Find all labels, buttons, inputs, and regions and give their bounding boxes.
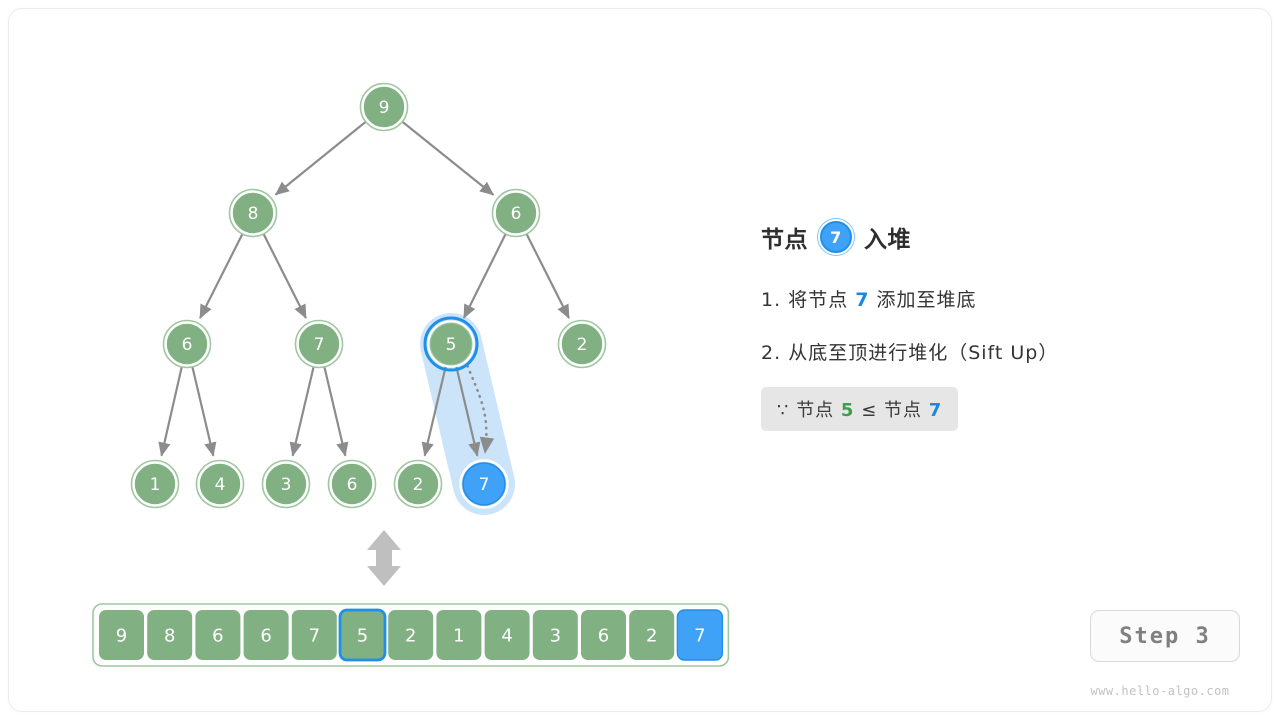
note-left-value: 5 bbox=[841, 400, 855, 421]
tree-edge bbox=[263, 234, 306, 319]
tree-node: 7 bbox=[461, 461, 508, 508]
array-cell-label: 9 bbox=[116, 626, 127, 647]
panel-title-prefix: 节点 bbox=[761, 220, 808, 254]
array-cell: 8 bbox=[147, 610, 192, 660]
tree-node-label: 5 bbox=[446, 335, 457, 355]
step-badge: Step 3 bbox=[1090, 610, 1240, 662]
tree-node-label: 6 bbox=[511, 204, 522, 224]
step-1-after: 添加至堆底 bbox=[877, 289, 977, 311]
step-2-before: 从底至顶进行堆化（Sift Up） bbox=[788, 342, 1058, 364]
array-cell: 7 bbox=[677, 610, 722, 660]
tree-node-label: 9 bbox=[379, 98, 390, 118]
diagram-frame: 9866752143627 9866752143627 节点 7 入堆 1. 将… bbox=[8, 8, 1272, 712]
tree-node-label: 2 bbox=[413, 475, 424, 495]
tree-node: 6 bbox=[493, 190, 540, 237]
tree-nodes: 9866752143627 bbox=[132, 84, 606, 508]
note-symbol: ∵ bbox=[777, 400, 789, 421]
tree-edge bbox=[526, 234, 569, 319]
tree-edge bbox=[192, 366, 213, 455]
array-cell-label: 1 bbox=[453, 626, 464, 647]
tree-node: 2 bbox=[395, 461, 442, 508]
note-left-label: 节点 bbox=[796, 400, 834, 421]
panel-title-suffix: 入堆 bbox=[864, 220, 911, 254]
tree-node: 6 bbox=[164, 321, 211, 368]
tree-edge bbox=[200, 234, 243, 319]
tree-node-label: 6 bbox=[347, 475, 358, 495]
diagram-stage: 9866752143627 9866752143627 节点 7 入堆 1. 将… bbox=[9, 9, 1272, 712]
tree-edge bbox=[161, 366, 181, 455]
tree-node-label: 7 bbox=[479, 475, 490, 495]
step-1-index: 1. bbox=[761, 289, 781, 311]
array-cell-label: 5 bbox=[357, 626, 368, 647]
array-cell-label: 7 bbox=[309, 626, 320, 647]
array-cell-label: 6 bbox=[260, 626, 271, 647]
note-right-label: 节点 bbox=[884, 400, 922, 421]
array-cell: 6 bbox=[244, 610, 289, 660]
array-cell: 6 bbox=[195, 610, 240, 660]
tree-node-label: 4 bbox=[215, 475, 226, 495]
array-cell-label: 2 bbox=[646, 626, 657, 647]
comparison-note: ∵ 节点 5 ≤ 节点 7 bbox=[761, 387, 958, 431]
array-cell-label: 6 bbox=[598, 626, 609, 647]
array-cell: 6 bbox=[581, 610, 626, 660]
panel-title: 节点 7 入堆 bbox=[761, 215, 1241, 259]
array-cell-label: 8 bbox=[164, 626, 175, 647]
array-cell: 9 bbox=[99, 610, 144, 660]
site-footer: www.hello-algo.com bbox=[1080, 684, 1240, 698]
step-line-1: 1. 将节点 7 添加至堆底 bbox=[761, 285, 1241, 312]
array-cell-label: 3 bbox=[550, 626, 561, 647]
tree-node: 4 bbox=[197, 461, 244, 508]
up-down-arrow-icon bbox=[367, 530, 401, 586]
array-cell-label: 4 bbox=[501, 626, 512, 647]
step-1-before: 将节点 bbox=[788, 289, 848, 311]
array-cell: 3 bbox=[533, 610, 578, 660]
tree-node-label: 7 bbox=[314, 335, 325, 355]
tree-node: 2 bbox=[559, 321, 606, 368]
array-cell-label: 6 bbox=[212, 626, 223, 647]
tree-node: 8 bbox=[230, 190, 277, 237]
step-1-number: 7 bbox=[855, 289, 869, 311]
array-cell-label: 7 bbox=[694, 626, 705, 647]
tree-edge bbox=[402, 121, 493, 194]
tree-node-label: 2 bbox=[577, 335, 588, 355]
tree-node-label: 1 bbox=[150, 475, 161, 495]
panel-title-node-badge: 7 bbox=[820, 221, 852, 253]
array-cell-label: 2 bbox=[405, 626, 416, 647]
tree-edge bbox=[276, 121, 367, 194]
tree-edge bbox=[324, 366, 345, 455]
tree-edge bbox=[293, 366, 314, 455]
explanation-panel: 节点 7 入堆 1. 将节点 7 添加至堆底 2. 从底至顶进行堆化（Sift … bbox=[761, 215, 1241, 431]
array-cell: 2 bbox=[629, 610, 674, 660]
tree-node: 6 bbox=[329, 461, 376, 508]
step-line-2: 2. 从底至顶进行堆化（Sift Up） bbox=[761, 338, 1241, 365]
tree-node: 1 bbox=[132, 461, 179, 508]
tree-node-label: 3 bbox=[281, 475, 292, 495]
array-cell: 5 bbox=[340, 610, 385, 660]
array-cell: 7 bbox=[292, 610, 337, 660]
array-cell: 2 bbox=[388, 610, 433, 660]
tree-node: 5 bbox=[425, 318, 477, 370]
tree-edges bbox=[161, 121, 568, 455]
step-2-index: 2. bbox=[761, 342, 781, 364]
tree-node-label: 6 bbox=[182, 335, 193, 355]
array-cell: 1 bbox=[436, 610, 481, 660]
note-right-value: 7 bbox=[929, 400, 943, 421]
note-operator: ≤ bbox=[861, 400, 877, 421]
tree-node: 9 bbox=[361, 84, 408, 131]
heap-array: 9866752143627 bbox=[93, 604, 728, 666]
tree-edge bbox=[464, 234, 506, 318]
tree-node: 7 bbox=[296, 321, 343, 368]
array-cell: 4 bbox=[485, 610, 530, 660]
tree-node: 3 bbox=[263, 461, 310, 508]
tree-node-label: 8 bbox=[248, 204, 259, 224]
